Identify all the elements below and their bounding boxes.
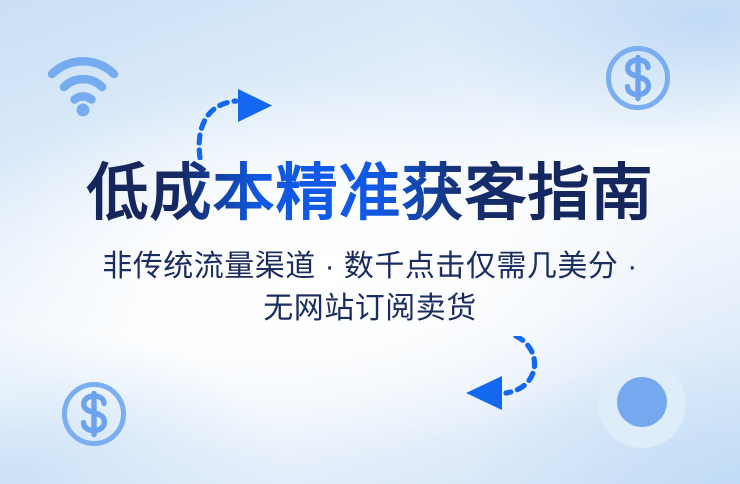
page-title: 低成本精准获客指南	[86, 161, 653, 228]
poster-subtitle-line-1: 非传统流量渠道 · 数千点击仅需几美分 ·	[102, 246, 638, 289]
poster-canvas: 低成本精准获客指南 非传统流量渠道 · 数千点击仅需几美分 · 无网站订阅卖货	[0, 0, 740, 484]
poster-subtitle-line-2: 无网站订阅卖货	[102, 288, 638, 331]
poster-text-block: 低成本精准获客指南 非传统流量渠道 · 数千点击仅需几美分 · 无网站订阅卖货	[0, 0, 740, 484]
poster-subtitle: 非传统流量渠道 · 数千点击仅需几美分 · 无网站订阅卖货	[102, 246, 638, 331]
